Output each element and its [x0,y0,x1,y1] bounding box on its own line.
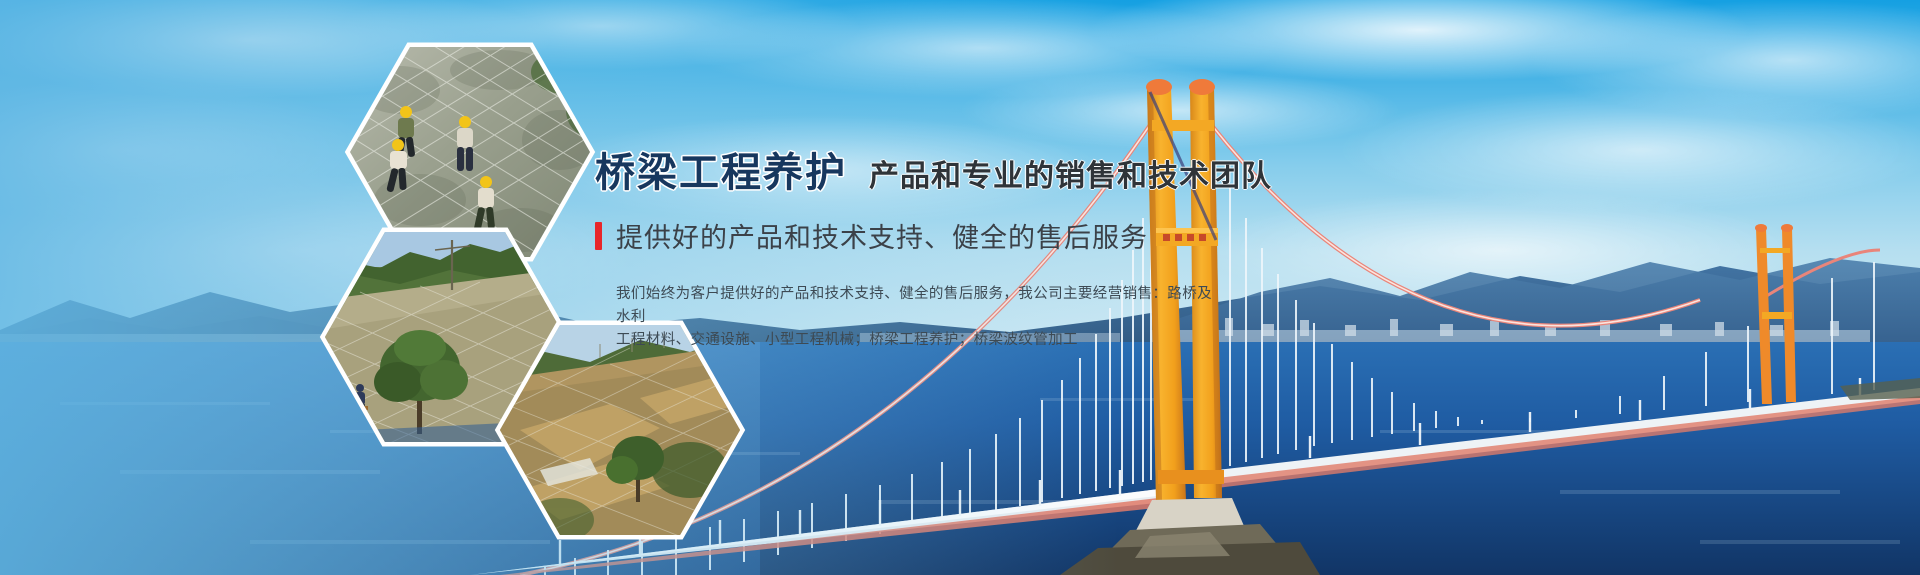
description-line-1: 我们始终为客户提供好的产品和技术支持、健全的售后服务，我公司主要经营销售：路桥及… [616,283,1226,329]
page-title: 桥梁工程养护 [595,140,847,198]
tagline-row: 提供好的产品和技术支持、健全的售后服务 [595,216,1315,255]
heading-row: 桥梁工程养护 产品和专业的销售和技术团队 [595,140,1315,198]
hero-banner: 桥梁工程养护 产品和专业的销售和技术团队 提供好的产品和技术支持、健全的售后服务… [0,0,1920,575]
banner-text-block: 桥梁工程养护 产品和专业的销售和技术团队 提供好的产品和技术支持、健全的售后服务… [595,140,1315,352]
page-subtitle: 产品和专业的销售和技术团队 [869,151,1272,195]
description-line-2: 工程材料、交通设施、小型工程机械；桥梁工程养护；桥梁波纹管加工 [616,329,1226,352]
description-block: 我们始终为客户提供好的产品和技术支持、健全的售后服务，我公司主要经营销售：路桥及… [616,283,1226,352]
tagline-text: 提供好的产品和技术支持、健全的售后服务 [616,216,1148,255]
accent-bar [595,222,602,250]
